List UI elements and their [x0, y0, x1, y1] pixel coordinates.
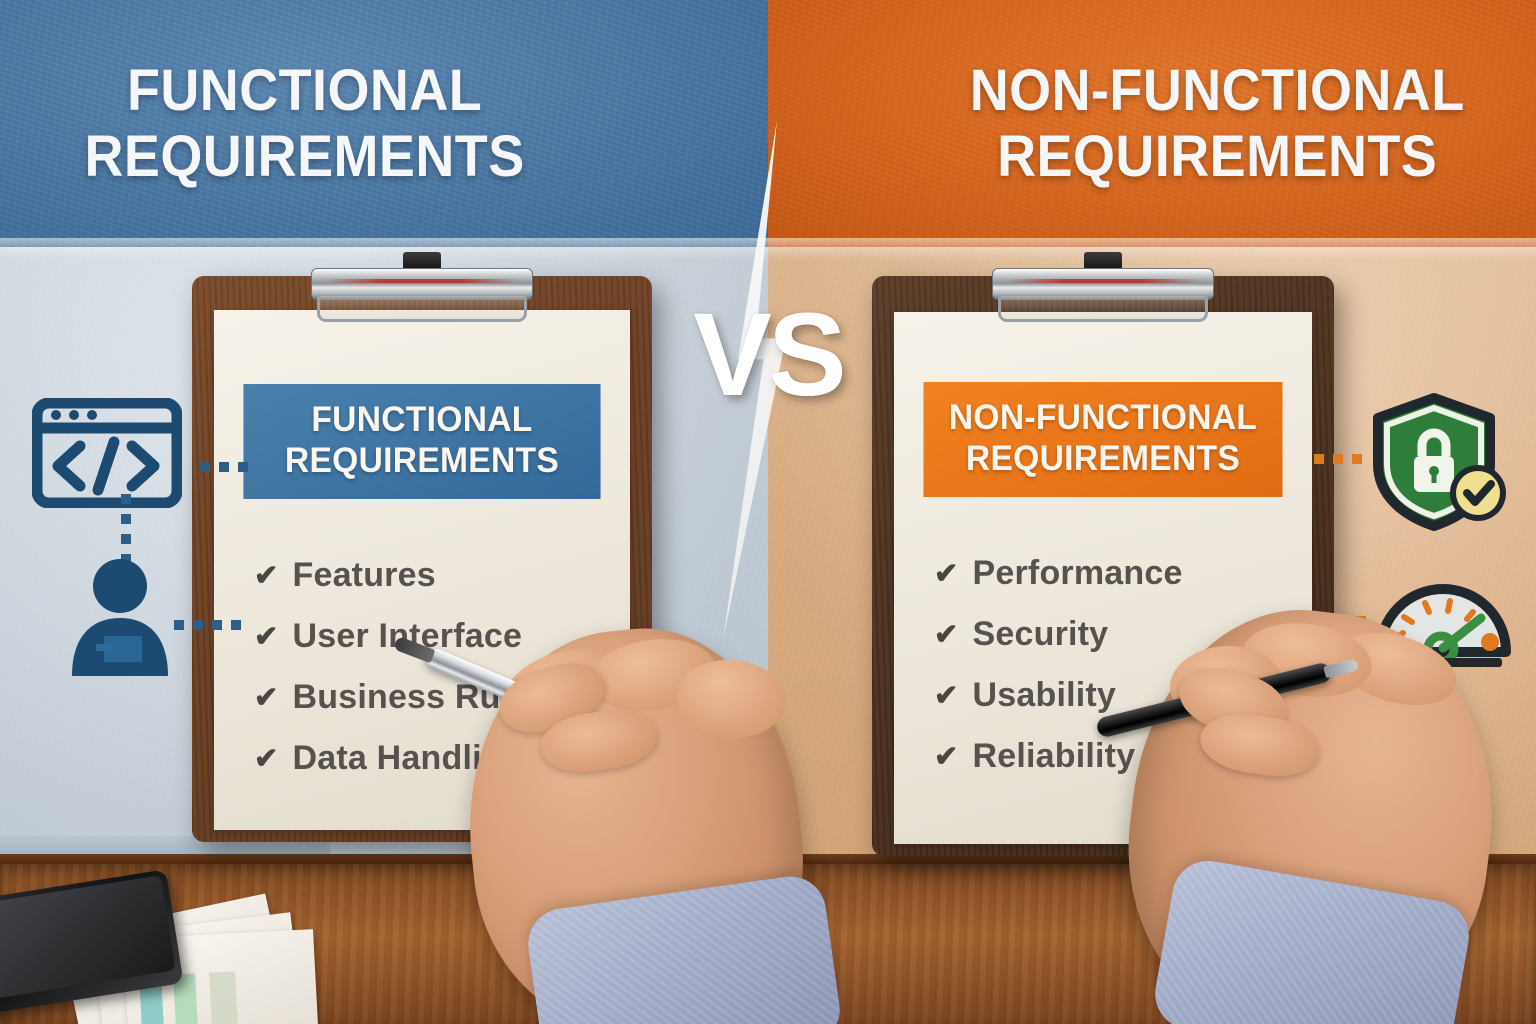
connector-dots-vertical: [121, 494, 131, 564]
board-title-right-line1: NON-FUNCTIONAL: [949, 398, 1257, 437]
check-icon: ✔: [254, 623, 279, 652]
clip-wire: [998, 296, 1208, 322]
header-banner-nonfunctional: NON-FUNCTIONAL REQUIREMENTS: [768, 0, 1536, 247]
board-title-right: NON-FUNCTIONAL REQUIREMENTS: [923, 382, 1282, 497]
list-item-label: Security: [973, 617, 1109, 651]
board-title-left-line2: REQUIREMENTS: [285, 441, 559, 480]
board-title-left-line1: FUNCTIONAL: [311, 400, 532, 439]
left-icon-group: [32, 398, 182, 513]
check-icon: ✔: [934, 621, 959, 650]
infographic-canvas: FUNCTIONAL REQUIREMENTS NON-FUNCTIONAL R…: [0, 0, 1536, 1024]
clip-red-accent: [324, 279, 520, 283]
clip-wire: [317, 296, 527, 322]
board-title-right-line2: REQUIREMENTS: [966, 439, 1240, 478]
header-title-left-line2: REQUIREMENTS: [85, 124, 525, 189]
board-title-left: FUNCTIONAL REQUIREMENTS: [243, 384, 600, 499]
check-icon: ✔: [254, 745, 279, 774]
check-icon: ✔: [934, 560, 959, 589]
list-item: ✔ Features: [254, 558, 612, 592]
shield-lock-check-icon: [1364, 392, 1514, 532]
header-title-right-line2: REQUIREMENTS: [997, 124, 1437, 189]
clip-red-accent: [1005, 279, 1201, 283]
header-banner-functional: FUNCTIONAL REQUIREMENTS: [0, 0, 768, 247]
header-title-left-line1: FUNCTIONAL: [127, 58, 482, 123]
connector-dots-user: [174, 620, 241, 630]
connector-dots-shield: [1314, 454, 1362, 464]
code-window-icon: [32, 398, 182, 508]
user-person-icon: [54, 556, 186, 676]
header-title-right: NON-FUNCTIONAL REQUIREMENTS: [839, 58, 1464, 189]
connector-dots-code: [200, 462, 248, 472]
check-icon: ✔: [254, 562, 279, 591]
check-icon: ✔: [934, 682, 959, 711]
check-icon: ✔: [254, 684, 279, 713]
clipboard-clip-left: [311, 262, 533, 328]
right-icon-group: [1364, 392, 1514, 537]
list-item-label: Performance: [973, 556, 1183, 590]
list-item-label: Features: [293, 558, 436, 592]
list-item-label: Reliability: [973, 739, 1136, 773]
clipboard-clip-right: [992, 262, 1214, 328]
check-icon: ✔: [934, 743, 959, 772]
header-title-left: FUNCTIONAL REQUIREMENTS: [85, 58, 683, 189]
list-item: ✔ Performance: [934, 556, 1294, 590]
header-title-right-line1: NON-FUNCTIONAL: [970, 58, 1465, 123]
list-item-label: Usability: [973, 678, 1117, 712]
